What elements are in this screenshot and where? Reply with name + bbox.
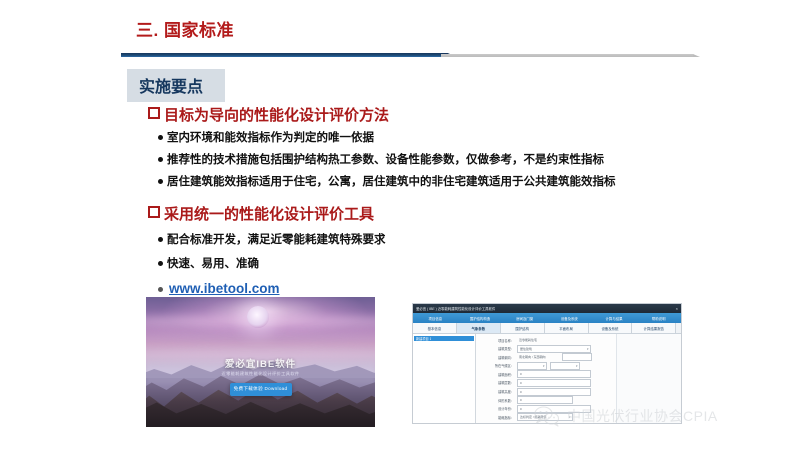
app-project-tree[interactable]: 新建项目 1 bbox=[413, 334, 476, 424]
wechat-icon bbox=[534, 405, 560, 427]
form-label: 建筑类型： bbox=[480, 346, 517, 351]
form-field[interactable]: 0 bbox=[517, 370, 591, 378]
form-row: 建筑面积： 0 bbox=[480, 371, 616, 377]
dot-bullet-icon bbox=[158, 135, 163, 140]
form-label: 建筑层数： bbox=[480, 380, 517, 385]
hero-download-button[interactable]: 免费下载体验 Download bbox=[230, 383, 292, 396]
content-body: 目标为导向的性能化设计评价方法 室内环境和能效指标作为判定的唯一依据 推荐性的技… bbox=[148, 107, 778, 296]
menu-item[interactable]: 围护结构构造 bbox=[458, 316, 503, 321]
dot-bullet-icon bbox=[158, 287, 163, 292]
chevron-down-icon[interactable]: ▾ bbox=[543, 364, 545, 368]
hero-title: 爱必宜IBE软件 bbox=[146, 356, 375, 370]
tab-item[interactable]: 围护结构 bbox=[501, 323, 545, 333]
divider-blue-segment bbox=[121, 53, 441, 57]
slide-root: 三. 国家标准 实施要点 目标为导向的性能化设计评价方法 室内环境和能效指标作为… bbox=[0, 0, 800, 450]
chevron-down-icon[interactable]: ▾ bbox=[576, 364, 578, 368]
section-heading: 三. 国家标准 bbox=[136, 16, 234, 41]
form-label: 建筑面积： bbox=[480, 372, 517, 377]
subtitle-chip: 实施要点 bbox=[127, 69, 225, 102]
cloud-band bbox=[146, 332, 375, 341]
tab-item[interactable]: 计算结果报告 bbox=[632, 323, 676, 333]
website-link-row[interactable]: www.ibetool.com bbox=[158, 281, 778, 296]
form-value: 居住建筑 bbox=[520, 347, 532, 351]
watermark: 中国光伏行业协会CPIA bbox=[534, 405, 718, 427]
bullet-list-item: 室内环境和能效指标作为判定的唯一依据 bbox=[158, 131, 778, 146]
form-field[interactable]: 0 bbox=[517, 396, 573, 404]
form-label: 体形系数： bbox=[480, 398, 517, 403]
form-value[interactable]: 南北朝向 / 东西朝向 bbox=[517, 354, 559, 360]
tab-item[interactable]: 平面布局 bbox=[545, 323, 589, 333]
divider-gray-segment bbox=[441, 54, 693, 57]
form-field[interactable] bbox=[562, 353, 592, 361]
bullet-label: 快速、易用、准确 bbox=[167, 257, 259, 272]
form-label: 设计年份： bbox=[480, 406, 517, 411]
form-label: 建筑朝向： bbox=[480, 355, 517, 360]
form-row: 项目名称： 近零能耗住宅 bbox=[480, 337, 616, 343]
form-dropdown[interactable]: ▾ bbox=[517, 362, 547, 370]
square-bullet-icon bbox=[148, 107, 160, 119]
form-dropdown[interactable]: ▾ bbox=[550, 362, 580, 370]
tabbar-filler bbox=[676, 323, 681, 333]
close-icon[interactable]: × bbox=[672, 306, 678, 311]
menu-item[interactable]: 房间及门窗 bbox=[502, 316, 547, 321]
hero-subtitle: 近零能耗建筑性能化设计评价工具软件 bbox=[146, 371, 375, 377]
form-row: 建筑类型： 居住建筑▾ bbox=[480, 346, 616, 352]
menu-item[interactable]: 帮助说明 bbox=[636, 316, 681, 321]
group-heading: 采用统一的性能化设计评价工具 bbox=[148, 206, 778, 225]
bullet-list-item: 快速、易用、准确 bbox=[158, 257, 778, 272]
dot-bullet-icon bbox=[158, 157, 163, 162]
form-label: 所在气候区： bbox=[480, 363, 517, 368]
group-spacer bbox=[148, 197, 778, 206]
bullet-list-item: 配合标准开发，满足近零能耗建筑特殊要求 bbox=[158, 233, 778, 248]
bullet-label: 推荐性的技术措施包括围护结构热工参数、设备性能参数，仅做参考，不是约束性指标 bbox=[167, 153, 604, 168]
form-value: 近零能耗住宅 bbox=[517, 337, 571, 343]
form-row: 所在气候区： ▾ ▾ bbox=[480, 363, 616, 369]
form-row: 建筑层数： 0 bbox=[480, 380, 616, 386]
group-heading: 目标为导向的性能化设计评价方法 bbox=[148, 107, 778, 126]
form-dropdown[interactable]: 居住建筑▾ bbox=[517, 345, 591, 353]
tab-item[interactable]: 基本信息 bbox=[413, 323, 457, 333]
app-menubar: 项目信息 围护结构构造 房间及门窗 设备及系统 计算与结果 帮助说明 bbox=[413, 313, 681, 323]
dot-bullet-icon bbox=[158, 237, 163, 242]
form-row: 建筑高度： 0 bbox=[480, 389, 616, 395]
watermark-label: 中国光伏行业协会CPIA bbox=[567, 406, 718, 426]
menu-item[interactable]: 项目信息 bbox=[413, 316, 458, 321]
form-row: 体形系数： 0 bbox=[480, 397, 616, 403]
dot-bullet-icon bbox=[158, 261, 163, 266]
tree-node-label: 新建项目 1 bbox=[416, 336, 431, 341]
menu-item[interactable]: 设备及系统 bbox=[547, 316, 592, 321]
website-link[interactable]: www.ibetool.com bbox=[169, 281, 280, 296]
form-row: 建筑朝向： 南北朝向 / 东西朝向 bbox=[480, 354, 616, 360]
bullet-list-item: 推荐性的技术措施包括围护结构热工参数、设备性能参数，仅做参考，不是约束性指标 bbox=[158, 153, 778, 168]
group-heading-label: 采用统一的性能化设计评价工具 bbox=[164, 206, 374, 225]
form-field[interactable]: 0 bbox=[517, 388, 591, 396]
tab-item[interactable]: 气象参数 bbox=[457, 323, 501, 333]
menu-item[interactable]: 计算与结果 bbox=[592, 316, 637, 321]
form-label: 建筑高度： bbox=[480, 389, 517, 394]
app-title: 爱必宜 ( IBE ) 近零能耗建筑性能化设计评价工具软件 bbox=[416, 306, 495, 311]
dot-bullet-icon bbox=[158, 179, 163, 184]
app-tabbar: 基本信息 气象参数 围护结构 平面布局 设备及系统 计算结果报告 bbox=[413, 323, 681, 334]
form-field[interactable]: 0 bbox=[517, 379, 591, 387]
header-divider bbox=[121, 52, 793, 59]
bullet-label: 居住建筑能效指标适用于住宅，公寓，居住建筑中的非住宅建筑适用于公共建筑能效指标 bbox=[167, 175, 616, 190]
figure-website-screenshot: 爱必宜IBE软件 近零能耗建筑性能化设计评价工具软件 免费下载体验 Downlo… bbox=[146, 297, 375, 427]
tab-item[interactable]: 设备及系统 bbox=[589, 323, 633, 333]
app-titlebar: 爱必宜 ( IBE ) 近零能耗建筑性能化设计评价工具软件 × bbox=[413, 304, 681, 313]
chevron-down-icon[interactable]: ▾ bbox=[587, 347, 589, 351]
group-heading-label: 目标为导向的性能化设计评价方法 bbox=[164, 107, 389, 126]
square-bullet-icon bbox=[148, 206, 160, 218]
bullet-label: 室内环境和能效指标作为判定的唯一依据 bbox=[167, 131, 374, 146]
tree-node[interactable]: 新建项目 1 bbox=[414, 336, 474, 341]
bullet-label: 配合标准开发，满足近零能耗建筑特殊要求 bbox=[167, 233, 386, 248]
form-label: 项目名称： bbox=[480, 338, 517, 343]
bullet-list-item: 居住建筑能效指标适用于住宅，公寓，居住建筑中的非住宅建筑适用于公共建筑能效指标 bbox=[158, 175, 778, 190]
form-label: 能耗指标： bbox=[480, 415, 517, 420]
